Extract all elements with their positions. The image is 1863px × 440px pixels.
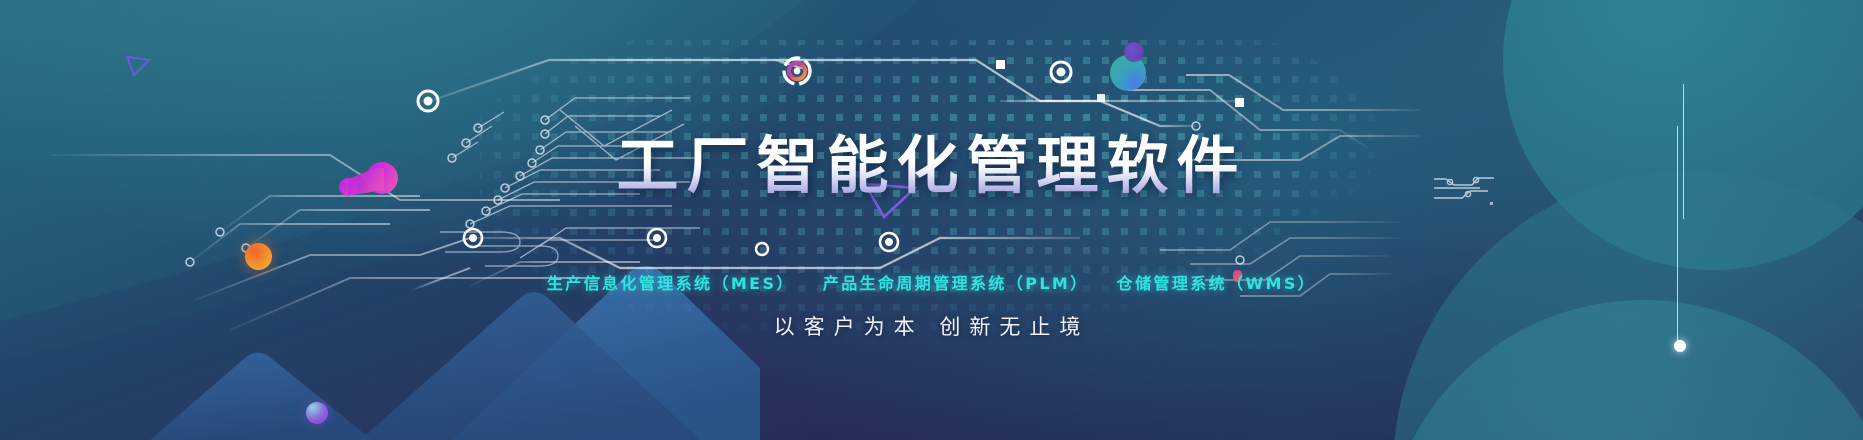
circuit-board-traces-decoration: [0, 0, 1863, 440]
circuit-square-node-b: [1235, 98, 1244, 107]
circuit-ring-node-lower-mid: [648, 229, 666, 247]
subtitle-system-list: 生产信息化管理系统（MES） 产品生命周期管理系统（PLM） 仓储管理系统（WM…: [0, 270, 1863, 294]
circuit-ring-node-left: [418, 91, 438, 111]
purple-dot-decoration: [306, 402, 328, 424]
circuit-square-node-c: [1097, 94, 1105, 102]
hero-banner: 工厂智能化管理软件 生产信息化管理系统（MES） 产品生命周期管理系统（PLM）…: [0, 0, 1863, 440]
purple-triangle-outline-small-decoration: [125, 55, 151, 77]
subtitle-item-wms: 仓储管理系统（WMS）: [1117, 270, 1317, 294]
gradient-ring-node-decoration: [782, 56, 812, 86]
gradient-sphere-purple-decoration: [1124, 42, 1144, 62]
page-title: 工厂智能化管理软件: [0, 133, 1863, 199]
circuit-ring-node-lower-right: [880, 233, 898, 251]
tagline: 以客户为本 创新无止境: [0, 311, 1863, 341]
white-dot-marker-decoration: [1674, 340, 1686, 352]
circuit-ring-node-right: [1051, 62, 1071, 82]
orange-dot-decoration: [245, 243, 272, 270]
subtitle-item-mes: 生产信息化管理系统（MES）: [547, 270, 795, 294]
circuit-square-node-a: [996, 60, 1005, 69]
subtitle-item-plm: 产品生命周期管理系统（PLM）: [823, 270, 1089, 294]
